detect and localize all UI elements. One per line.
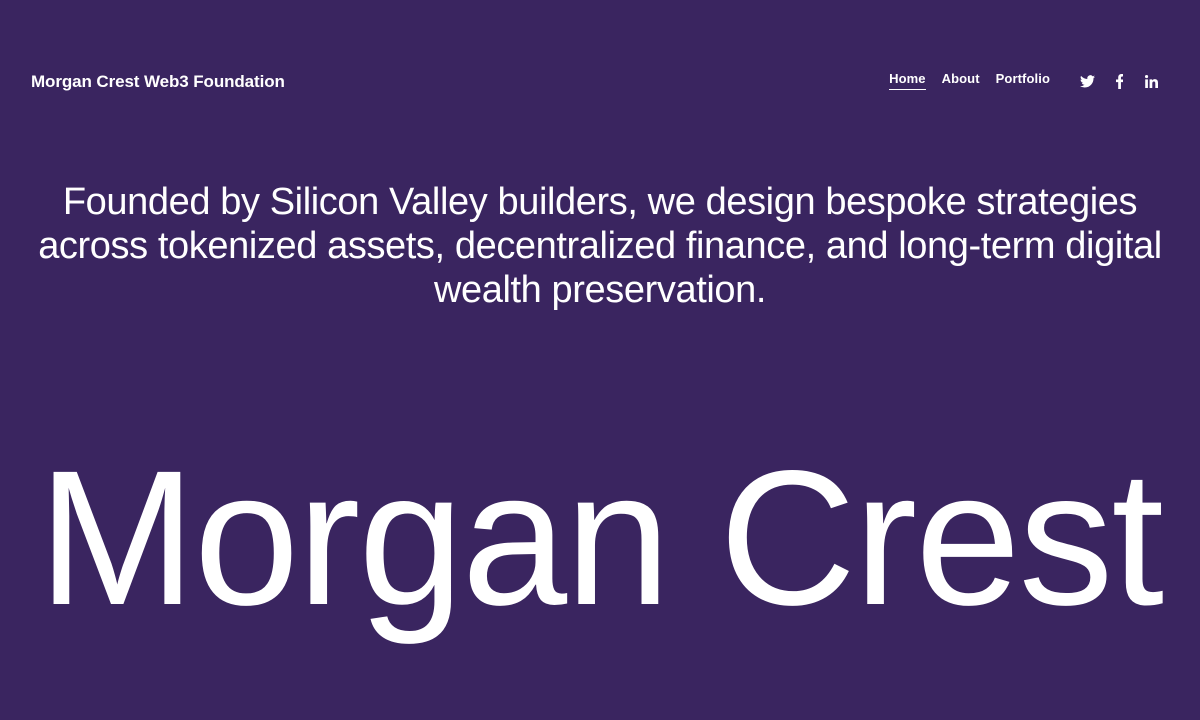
social-links <box>1080 74 1159 89</box>
nav-link-portfolio[interactable]: Portfolio <box>996 72 1050 90</box>
facebook-icon[interactable] <box>1112 74 1127 89</box>
header-nav-cluster: Home About Portfolio <box>889 60 1169 90</box>
linkedin-icon[interactable] <box>1144 74 1159 89</box>
nav-link-about[interactable]: About <box>942 72 980 90</box>
site-header: Morgan Crest Web3 Foundation Home About … <box>0 0 1200 150</box>
twitter-icon[interactable] <box>1080 74 1095 89</box>
brand-logo-text[interactable]: Morgan Crest Web3 Foundation <box>31 61 285 90</box>
primary-navigation: Home About Portfolio <box>889 72 1050 90</box>
wordmark-container: Morgan Crest <box>0 440 1200 670</box>
hero-headline: Founded by Silicon Valley builders, we d… <box>0 180 1200 312</box>
hero-wordmark: Morgan Crest <box>38 440 1162 653</box>
nav-link-home[interactable]: Home <box>889 72 926 90</box>
